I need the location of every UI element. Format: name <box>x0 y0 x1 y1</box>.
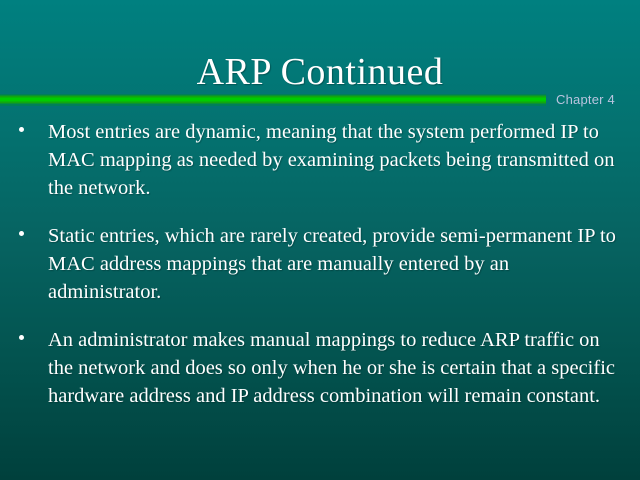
bullet-dot-icon <box>19 231 24 236</box>
bullet-text: Static entries, which are rarely created… <box>48 222 618 306</box>
bullet-text: An administrator makes manual mappings t… <box>48 326 618 410</box>
bullet-dot-icon <box>19 127 24 132</box>
list-item: An administrator makes manual mappings t… <box>0 326 640 410</box>
chapter-label: Chapter 4 <box>556 92 615 107</box>
bullet-dot-icon <box>19 335 24 340</box>
list-item: Static entries, which are rarely created… <box>0 222 640 306</box>
page-title: ARP Continued <box>197 53 444 91</box>
green-divider-line <box>0 94 546 106</box>
slide-bullet-list: Most entries are dynamic, meaning that t… <box>0 118 640 430</box>
bullet-text: Most entries are dynamic, meaning that t… <box>48 118 618 202</box>
presentation-slide: ARP Continued Chapter 4 Most entries are… <box>0 0 640 480</box>
title-divider-row: Chapter 4 <box>0 92 640 110</box>
list-item: Most entries are dynamic, meaning that t… <box>0 118 640 202</box>
